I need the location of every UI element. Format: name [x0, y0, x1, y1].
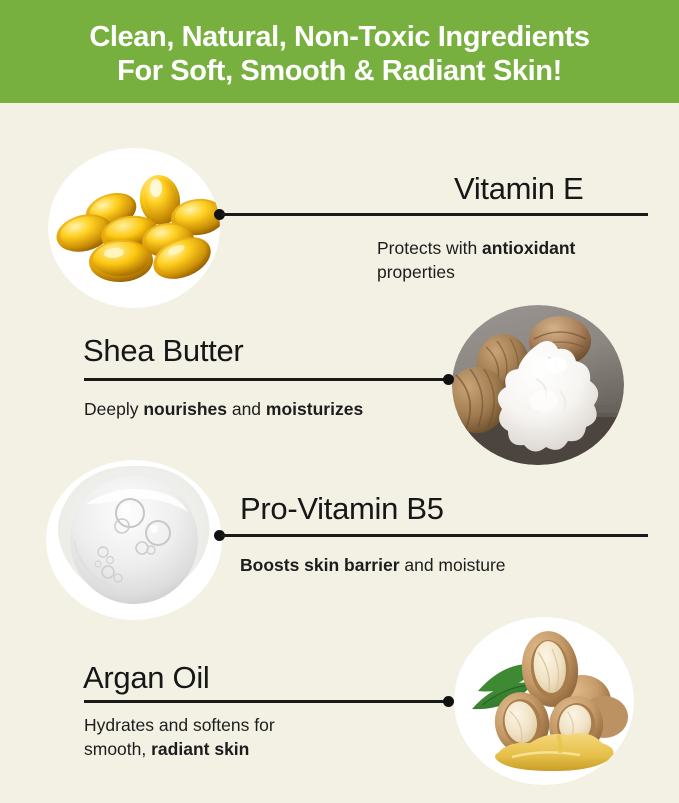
connector-line-argan-oil	[84, 700, 449, 703]
banner-headline-line-2: For Soft, Smooth & Radiant Skin!	[117, 54, 562, 88]
ingredient-desc-vitamin-e: Protects with antioxidant properties	[377, 236, 639, 284]
desc-text-line2-plain: smooth,	[84, 739, 151, 759]
ingredient-title-shea-butter: Shea Butter	[83, 334, 243, 368]
desc-text-middle: and	[227, 399, 266, 419]
vitamin-e-capsules-photo	[48, 148, 220, 308]
shea-butter-nuts-photo	[452, 305, 624, 465]
connector-line-shea-butter	[84, 378, 449, 381]
connector-line-vitamin-e	[221, 213, 648, 216]
pro-vitamin-b5-gel-photo	[46, 460, 222, 620]
desc-text-line2: properties	[377, 262, 455, 282]
shea-butter-illustration	[452, 305, 624, 465]
desc-text-plain: Protects with	[377, 238, 482, 258]
ingredient-title-vitamin-e: Vitamin E	[454, 172, 583, 206]
header-banner: Clean, Natural, Non-Toxic Ingredients Fo…	[0, 0, 679, 103]
desc-text-bold-2: moisturizes	[266, 399, 363, 419]
connector-dot-shea-butter	[443, 374, 454, 385]
ingredient-title-argan-oil: Argan Oil	[83, 661, 210, 695]
ingredient-desc-argan-oil: Hydrates and softens for smooth, radiant…	[84, 713, 384, 761]
desc-text-plain: and moisture	[400, 555, 506, 575]
gel-droplet-illustration	[46, 460, 222, 620]
vitamin-e-capsules-illustration	[48, 148, 220, 308]
argan-nuts-illustration	[454, 617, 634, 785]
ingredient-title-pro-vitamin-b5: Pro-Vitamin B5	[240, 492, 444, 526]
connector-dot-argan-oil	[443, 696, 454, 707]
ingredients-infographic: Clean, Natural, Non-Toxic Ingredients Fo…	[0, 0, 679, 803]
desc-text-plain: Deeply	[84, 399, 143, 419]
ingredient-desc-pro-vitamin-b5: Boosts skin barrier and moisture	[240, 553, 640, 577]
desc-text-bold-1: nourishes	[143, 399, 227, 419]
desc-text-line2-bold: radiant skin	[151, 739, 249, 759]
ingredient-desc-shea-butter: Deeply nourishes and moisturizes	[84, 397, 444, 421]
argan-oil-nuts-photo	[454, 617, 634, 785]
banner-headline-line-1: Clean, Natural, Non-Toxic Ingredients	[89, 20, 589, 54]
desc-text-bold: Boosts skin barrier	[240, 555, 400, 575]
connector-line-pro-vitamin-b5	[221, 534, 648, 537]
desc-text-bold: antioxidant	[482, 238, 575, 258]
desc-text-line1: Hydrates and softens for	[84, 715, 275, 735]
